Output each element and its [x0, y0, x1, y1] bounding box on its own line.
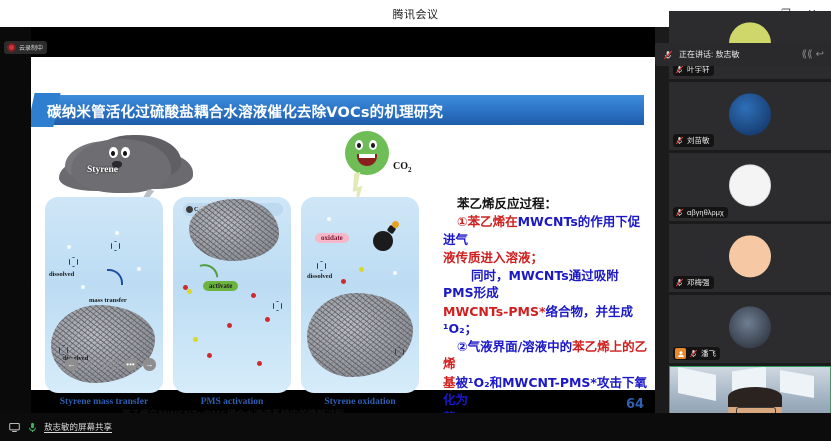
mic-muted-icon — [675, 65, 684, 74]
meeting-window: 云录制中 碳纳米管活化过硫酸盐耦合水溶液催化去除VOCs的机理研究 Styren… — [0, 27, 831, 441]
avatar — [729, 164, 771, 206]
next-slide-button[interactable]: → — [143, 358, 156, 371]
collapse-double-icon[interactable]: ⟪⟪ — [801, 49, 812, 60]
slide-page-number: 64 — [626, 397, 644, 412]
participant-tile[interactable]: 潘飞 — [669, 295, 831, 363]
recording-label: 云录制中 — [19, 43, 43, 52]
bomb-icon — [373, 231, 393, 251]
participants-sidebar: 叶宇轩 刘苗敏 αβγηθλρμχ — [655, 27, 831, 441]
mic-muted-icon — [675, 278, 684, 287]
participant-name: 潘飞 — [701, 348, 716, 359]
mic-muted-icon — [663, 50, 672, 59]
styrene-cloud-label: Styrene — [87, 165, 118, 175]
caption-panel-2: PMS activation — [173, 397, 291, 407]
panel-styrene-oxidation: oxidate dissolved — [301, 197, 419, 393]
caption-panel-3: Styrene oxidation — [301, 397, 419, 407]
host-badge-icon — [675, 348, 686, 359]
mic-muted-icon — [675, 136, 684, 145]
share-status-label[interactable]: 敖志敏的屏幕共享 — [44, 421, 112, 433]
banner-controls[interactable]: ⟪⟪ ↩ — [801, 43, 824, 66]
panel2-label-activate: activate — [203, 281, 238, 291]
speaking-label: 正在讲话: 敖志敏 — [679, 49, 739, 60]
speaking-banner: 正在讲话: 敖志敏 ⟪⟪ ↩ — [655, 43, 831, 66]
subtitles-button[interactable]: CC — [103, 359, 118, 370]
slide-title: 碳纳米管活化过硫酸盐耦合水溶液催化去除VOCs的机理研究 — [47, 99, 637, 123]
recording-indicator[interactable]: 云录制中 — [4, 41, 47, 54]
panel3-label-oxidate: oxidate — [315, 233, 349, 243]
participant-tile[interactable]: 刘苗敏 — [669, 82, 831, 150]
caption-panel-1: Styrene mass transfer — [45, 397, 163, 407]
participant-name-chip: αβγηθλρμχ — [673, 207, 728, 218]
participant-name: 刘苗敏 — [687, 135, 710, 146]
panel-pms-activation: C H O S activate — [173, 197, 291, 393]
slide-text-block: 苯乙烯反应过程： ①苯乙烯在MWCNTs的作用下促进气 液传质进入溶液； 同时，… — [443, 195, 648, 413]
participant-tile-strip[interactable]: 叶宇轩 刘苗敏 αβγηθλρμχ — [669, 27, 831, 441]
atom-carbon-icon — [186, 206, 193, 213]
participant-name: 邓梅强 — [687, 277, 710, 288]
mic-muted-icon — [689, 349, 698, 358]
text-heading: 苯乙烯反应过程： — [443, 195, 648, 212]
avatar — [729, 306, 771, 348]
avatar — [729, 235, 771, 277]
avatar — [729, 93, 771, 135]
text-line-6: 基被¹O₂和MWCNT-PMS*攻击下氧化为 — [443, 374, 648, 409]
participant-name-chip: 潘飞 — [673, 347, 720, 360]
participant-name-chip: 邓梅强 — [673, 276, 714, 289]
co2-smiley-icon: CO2 — [335, 129, 421, 197]
participant-name-chip: 刘苗敏 — [673, 134, 714, 147]
panel1-label-dissolved: dissolved — [49, 271, 74, 278]
presentation-slide: 碳纳米管活化过硫酸盐耦合水溶液催化去除VOCs的机理研究 Styrene — [31, 57, 655, 390]
participant-tile[interactable]: 邓梅强 — [669, 224, 831, 292]
co2-label: CO2 — [393, 161, 412, 174]
window-title: 腾讯会议 — [393, 6, 439, 22]
text-line-4: MWCNTs-PMS*络合物，并生成¹O₂； — [443, 303, 648, 338]
shared-screen-area[interactable]: 碳纳米管活化过硫酸盐耦合水溶液催化去除VOCs的机理研究 Styrene — [31, 27, 655, 413]
styrene-cloud-icon: Styrene — [63, 131, 193, 201]
participant-name: αβγηθλρμχ — [687, 208, 724, 217]
collapse-back-icon[interactable]: ↩ — [816, 49, 824, 60]
text-line-3: 同时，MWCNTs通过吸附PMS形成 — [443, 267, 648, 302]
left-gutter — [0, 27, 31, 413]
participant-tile[interactable]: αβγηθλρμχ — [669, 153, 831, 221]
pen-tool-button[interactable]: ✐ — [84, 358, 97, 371]
text-line-2: 液传质进入溶液； — [443, 249, 648, 266]
panel3-label-dissolved: dissolved — [307, 273, 332, 280]
more-options-button[interactable]: ••• — [124, 358, 137, 371]
mic-green-icon[interactable] — [26, 421, 38, 433]
text-line-1: ①苯乙烯在MWCNTs的作用下促进气 — [443, 213, 648, 248]
previous-slide-button[interactable]: ← — [65, 358, 78, 371]
text-line-5: ②气液界面/溶液中的苯乙烯上的乙烯 — [443, 338, 648, 373]
panel1-label-mass-transfer: mass transfer — [89, 297, 127, 304]
share-status-bar: 敖志敏的屏幕共享 — [0, 413, 831, 441]
recording-dot-icon — [7, 43, 16, 52]
presenter-toolbar[interactable]: ← ✐ CC ••• → — [65, 358, 156, 371]
monitor-icon — [8, 421, 20, 433]
mic-muted-icon — [675, 208, 684, 217]
